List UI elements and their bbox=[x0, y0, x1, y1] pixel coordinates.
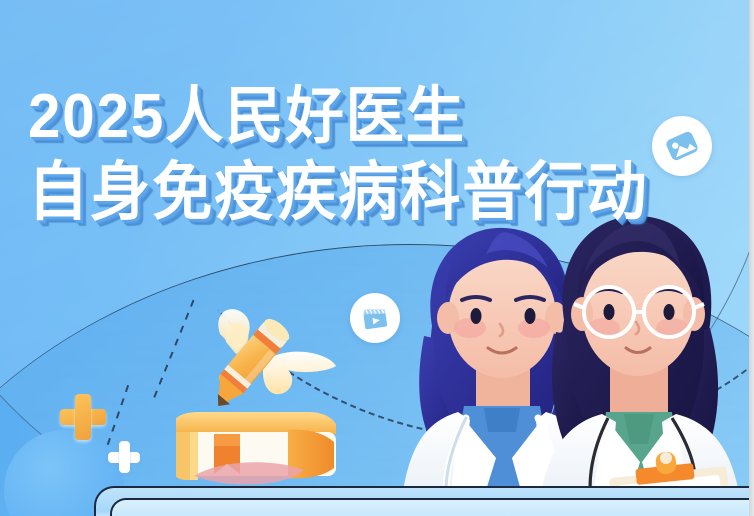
title-line-2: 自身免疫疾病科普行动 bbox=[28, 160, 648, 224]
plus-icon-white bbox=[108, 441, 140, 473]
poster-canvas: 2025人民好医生 自身免疫疾病科普行动 bbox=[0, 0, 754, 516]
video-clapperboard-icon[interactable] bbox=[350, 293, 400, 343]
poster-title: 2025人民好医生 自身免疫疾病科普行动 bbox=[28, 86, 688, 224]
winged-pencil-and-book bbox=[176, 300, 352, 490]
plus-icon-orange bbox=[60, 394, 106, 440]
doctor-illustration-group bbox=[400, 206, 754, 516]
right-edge-border bbox=[749, 0, 754, 516]
desk-bar-inner bbox=[110, 498, 754, 516]
title-line-1: 2025人民好医生 bbox=[28, 86, 648, 148]
image-photo-icon[interactable] bbox=[652, 116, 712, 176]
